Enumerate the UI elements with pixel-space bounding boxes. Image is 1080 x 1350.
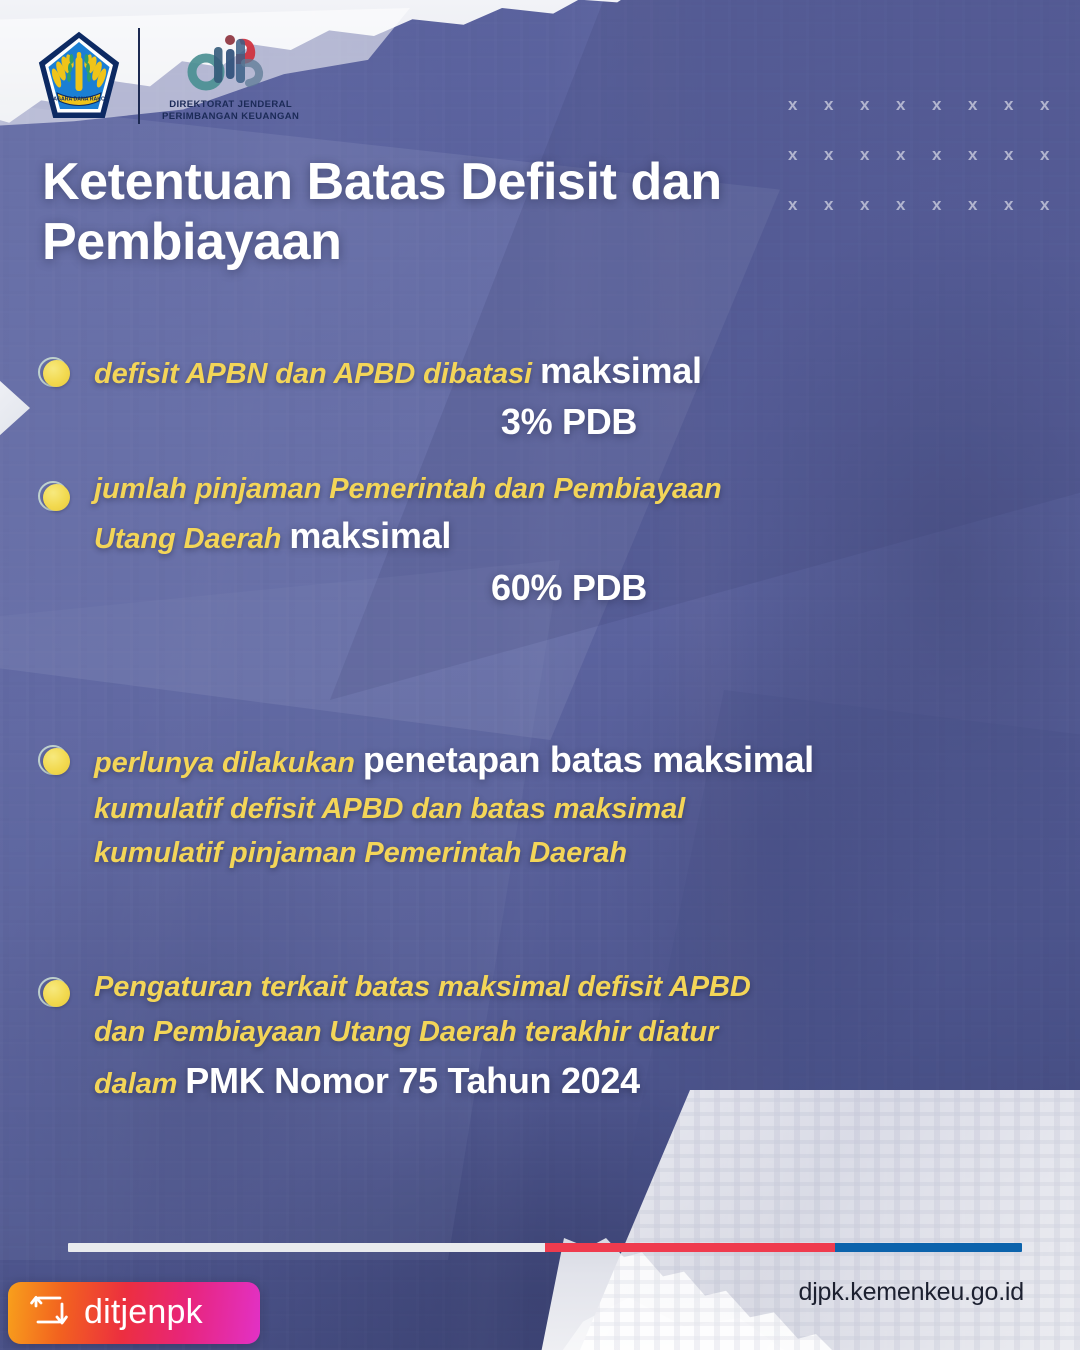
footer-rule [68, 1243, 1022, 1252]
bullet-dot-icon [42, 979, 72, 1009]
footer-rule-blue-segment [835, 1243, 1022, 1252]
x-pattern-glyph: x [1004, 196, 1040, 246]
x-pattern-glyph: x [968, 146, 1004, 196]
bullet-3-yellow-3: kumulatif pinjaman Pemerintah Daerah [94, 831, 1044, 875]
bullet-text-2: jumlah pinjaman Pemerintah dan Pembiayaa… [94, 469, 1044, 612]
footer-rule-white-segment [68, 1243, 545, 1252]
x-pattern-glyph: x [1040, 96, 1076, 146]
bullet-item-2: jumlah pinjaman Pemerintah dan Pembiayaa… [0, 469, 1080, 612]
x-pattern-glyph: x [860, 96, 896, 146]
x-pattern-glyph: x [788, 96, 824, 146]
brand-header: NAGARA DANA RAKCA D [36, 28, 299, 124]
x-pattern-glyph: x [968, 196, 1004, 246]
infographic-poster: x x x x x x x x x x x x x x x x x x x x … [0, 0, 1080, 1350]
djpk-line-2: PERIMBANGAN KEUANGAN [162, 111, 299, 123]
bullet-text-1: defisit APBN dan APBD dibatasi maksimal … [94, 345, 1044, 447]
bullet-2-yellow-2: Utang Daerah [94, 523, 281, 555]
x-pattern-glyph: x [932, 146, 968, 196]
website-url: djpk.kemenkeu.go.id [798, 1278, 1024, 1307]
social-handle-label: ditjenpk [84, 1295, 203, 1332]
bullet-dot-icon [42, 747, 72, 777]
x-pattern-glyph: x [932, 96, 968, 146]
x-pattern-glyph: x [1004, 146, 1040, 196]
bullet-text-4: Pengaturan terkait batas maksimal defisi… [94, 965, 1044, 1108]
x-pattern-glyph: x [896, 96, 932, 146]
bullet-1-white-1: maksimal [540, 350, 702, 391]
x-pattern-glyph: x [968, 96, 1004, 146]
repost-icon [30, 1294, 68, 1333]
x-pattern-glyph: x [896, 146, 932, 196]
bullet-4-yellow-2: dan Pembiayaan Utang Daerah terakhir dia… [94, 1010, 1044, 1054]
x-pattern-glyph: x [1004, 96, 1040, 146]
bullet-text-3: perlunya dilakukan penetapan batas maksi… [94, 733, 1044, 876]
bullet-2-white-1: maksimal [289, 515, 451, 556]
djpk-wordmark: DIREKTORAT JENDERAL PERIMBANGAN KEUANGAN [162, 99, 299, 123]
bullet-3-yellow-2: kumulatif defisit APBD dan batas maksima… [94, 787, 1044, 831]
bullet-1-white-2: 3% PDB [94, 396, 1044, 447]
logo-divider [138, 28, 140, 124]
djpk-logomark-icon [185, 33, 277, 96]
social-handle-badge[interactable]: ditjenpk [8, 1282, 260, 1344]
svg-text:NAGARA DANA RAKCA: NAGARA DANA RAKCA [50, 97, 109, 103]
bullet-item-3: perlunya dilakukan penetapan batas maksi… [0, 733, 1080, 876]
bullet-2-white-2: 60% PDB [94, 562, 1044, 613]
kemenkeu-emblem-icon: NAGARA DANA RAKCA [36, 31, 122, 121]
x-pattern-glyph: x [1040, 196, 1076, 246]
bullet-list: defisit APBN dan APBD dibatasi maksimal … [0, 345, 1080, 1108]
bullet-3-white-1: penetapan batas maksimal [363, 739, 814, 780]
bullet-2-yellow-1: jumlah pinjaman Pemerintah dan Pembiayaa… [94, 473, 722, 505]
djpk-line-1: DIREKTORAT JENDERAL [162, 99, 299, 111]
bullet-4-yellow-1: Pengaturan terkait batas maksimal defisi… [94, 965, 1044, 1009]
bullet-dot-icon [42, 483, 72, 513]
x-pattern-glyph: x [896, 196, 932, 246]
page-title: Ketentuan Batas Defisit dan Pembiayaan [42, 152, 882, 273]
bullet-1-yellow-1: defisit APBN dan APBD dibatasi [94, 358, 532, 390]
bullet-item-4: Pengaturan terkait batas maksimal defisi… [0, 965, 1080, 1108]
x-pattern-glyph: x [932, 196, 968, 246]
bullet-4-yellow-3: dalam [94, 1068, 177, 1100]
footer-rule-red-segment [545, 1243, 835, 1252]
x-pattern-glyph: x [824, 96, 860, 146]
bullet-3-yellow-1: perlunya dilakukan [94, 747, 355, 779]
x-pattern-glyph: x [1040, 146, 1076, 196]
bullet-4-white-1: PMK Nomor 75 Tahun 2024 [185, 1060, 640, 1101]
bullet-dot-icon [42, 359, 72, 389]
djpk-logo-block: DIREKTORAT JENDERAL PERIMBANGAN KEUANGAN [162, 29, 299, 123]
bullet-item-1: defisit APBN dan APBD dibatasi maksimal … [0, 345, 1080, 447]
